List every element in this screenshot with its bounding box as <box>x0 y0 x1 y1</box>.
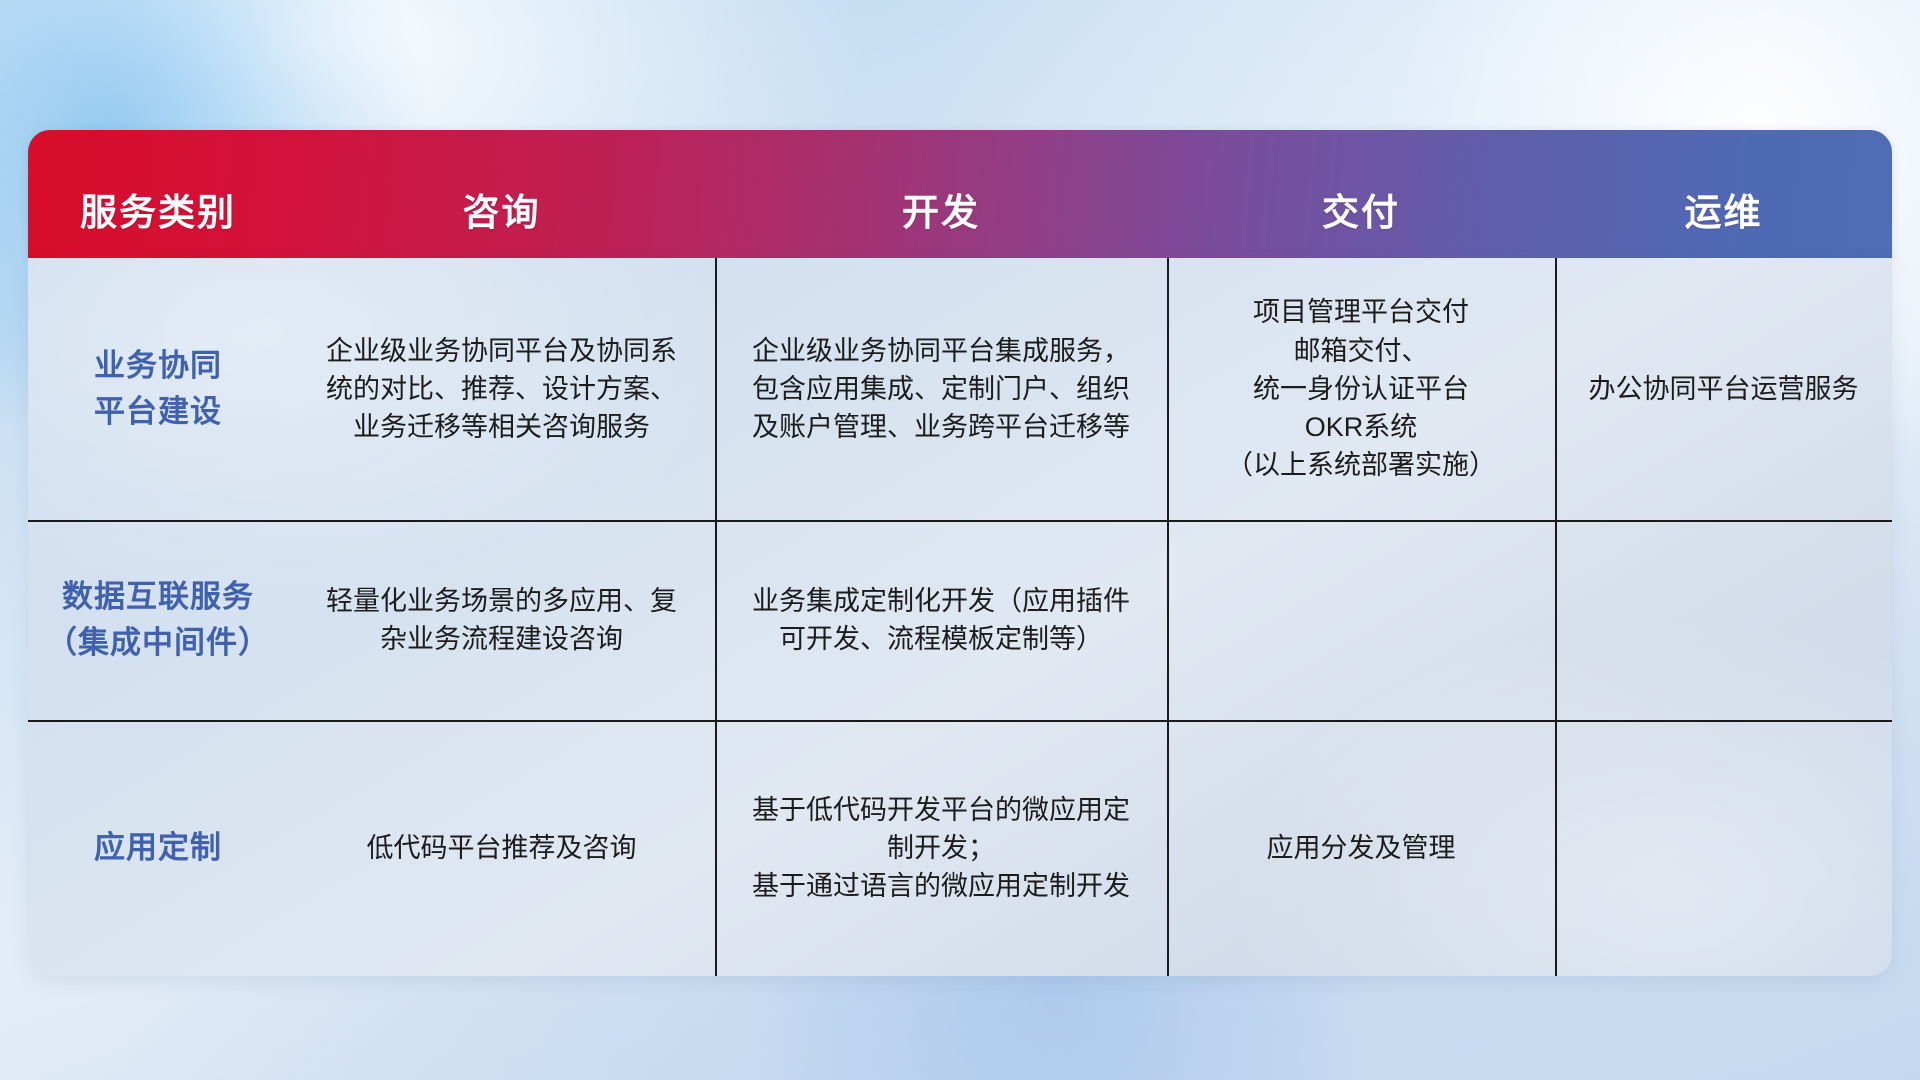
table-header-row: 服务类别 咨询 开发 交付 运维 <box>28 130 1892 258</box>
cell-development: 业务集成定制化开发（应用插件 可开发、流程模板定制等） <box>715 520 1167 720</box>
cell-consulting: 轻量化业务场景的多应用、复 杂业务流程建设咨询 <box>288 520 715 720</box>
service-category-table: 服务类别 咨询 开发 交付 运维 业务协同 平台建设 企业级业务协同平台及协同系… <box>28 130 1892 976</box>
row-category-label: 应用定制 <box>28 720 288 976</box>
row-category-label: 数据互联服务 （集成中间件） <box>28 520 288 720</box>
table-row: 数据互联服务 （集成中间件） 轻量化业务场景的多应用、复 杂业务流程建设咨询 业… <box>28 520 1892 720</box>
cell-operations <box>1555 720 1892 976</box>
cell-delivery <box>1167 520 1555 720</box>
cell-consulting: 低代码平台推荐及咨询 <box>288 720 715 976</box>
cell-development: 企业级业务协同平台集成服务， 包含应用集成、定制门户、组织 及账户管理、业务跨平… <box>715 258 1167 520</box>
table-row: 业务协同 平台建设 企业级业务协同平台及协同系 统的对比、推荐、设计方案、 业务… <box>28 258 1892 520</box>
cell-development: 基于低代码开发平台的微应用定 制开发； 基于通过语言的微应用定制开发 <box>715 720 1167 976</box>
cell-delivery: 应用分发及管理 <box>1167 720 1555 976</box>
column-header-service-category: 服务类别 <box>28 130 288 258</box>
column-header-development: 开发 <box>715 130 1167 258</box>
cell-consulting: 企业级业务协同平台及协同系 统的对比、推荐、设计方案、 业务迁移等相关咨询服务 <box>288 258 715 520</box>
column-header-operations: 运维 <box>1555 130 1892 258</box>
table-row: 应用定制 低代码平台推荐及咨询 基于低代码开发平台的微应用定 制开发； 基于通过… <box>28 720 1892 976</box>
cell-operations: 办公协同平台运营服务 <box>1555 258 1892 520</box>
row-category-label: 业务协同 平台建设 <box>28 258 288 520</box>
column-header-delivery: 交付 <box>1167 130 1555 258</box>
column-header-consulting: 咨询 <box>288 130 715 258</box>
table-body: 业务协同 平台建设 企业级业务协同平台及协同系 统的对比、推荐、设计方案、 业务… <box>28 258 1892 976</box>
cell-delivery: 项目管理平台交付 邮箱交付、 统一身份认证平台 OKR系统 （以上系统部署实施） <box>1167 258 1555 520</box>
cell-operations <box>1555 520 1892 720</box>
